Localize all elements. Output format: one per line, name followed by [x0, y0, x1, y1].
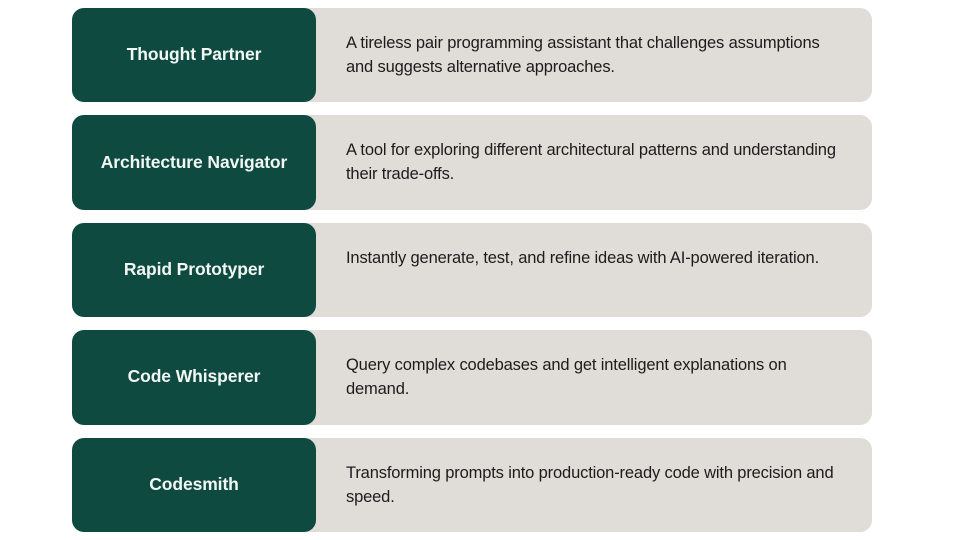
row-label-rapid-prototyper[interactable]: Rapid Prototyper: [72, 223, 316, 317]
row-label-architecture-navigator[interactable]: Architecture Navigator: [72, 115, 316, 209]
row-label-text: Code Whisperer: [128, 366, 261, 388]
row-description-rapid-prototyper: Instantly generate, test, and refine ide…: [316, 223, 872, 317]
row-label-thought-partner[interactable]: Thought Partner: [72, 8, 316, 102]
row-description-architecture-navigator: A tool for exploring different architect…: [316, 115, 872, 209]
row-label-text: Codesmith: [149, 474, 239, 496]
row-description-text: A tireless pair programming assistant th…: [346, 32, 851, 80]
row-label-text: Rapid Prototyper: [124, 259, 264, 281]
table-row: Thought Partner A tireless pair programm…: [72, 8, 872, 102]
row-description-codesmith: Transforming prompts into production-rea…: [316, 438, 872, 532]
row-description-code-whisperer: Query complex codebases and get intellig…: [316, 330, 872, 424]
row-description-thought-partner: A tireless pair programming assistant th…: [316, 8, 872, 102]
row-description-text: Instantly generate, test, and refine ide…: [346, 247, 851, 271]
row-description-text: Transforming prompts into production-rea…: [346, 462, 851, 510]
table-row: Architecture Navigator A tool for explor…: [72, 115, 872, 209]
row-description-text: Query complex codebases and get intellig…: [346, 354, 851, 402]
row-label-text: Thought Partner: [127, 44, 262, 66]
row-label-code-whisperer[interactable]: Code Whisperer: [72, 330, 316, 424]
table-row: Code Whisperer Query complex codebases a…: [72, 330, 872, 424]
table-row: Codesmith Transforming prompts into prod…: [72, 438, 872, 532]
row-label-codesmith[interactable]: Codesmith: [72, 438, 316, 532]
capability-table: Thought Partner A tireless pair programm…: [0, 0, 960, 540]
row-description-text: A tool for exploring different architect…: [346, 139, 851, 187]
table-row: Rapid Prototyper Instantly generate, tes…: [72, 223, 872, 317]
row-label-text: Architecture Navigator: [101, 152, 287, 174]
